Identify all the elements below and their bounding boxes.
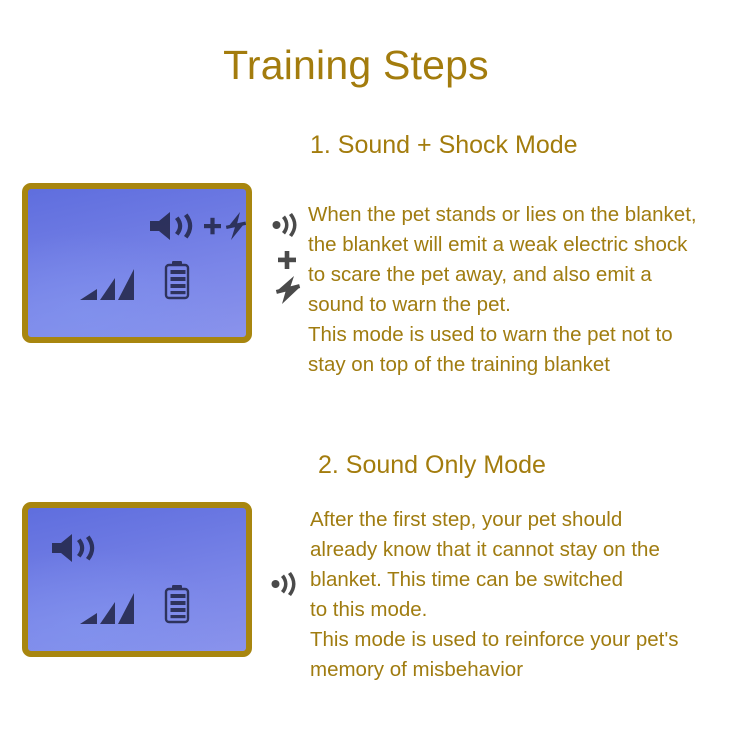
- body-line: blanket. This time can be switched: [310, 565, 679, 595]
- body-line: already know that it cannot stay on the: [310, 535, 679, 565]
- body-text-sound-only: After the first step, your pet should al…: [310, 505, 679, 685]
- lcd-display-sound-only: [22, 502, 252, 657]
- body-line: to scare the pet away, and also emit a: [308, 260, 697, 290]
- body-line: to this mode.: [310, 595, 679, 625]
- speaker-waves-icon: [271, 572, 301, 596]
- speaker-plus-shock-icon: [148, 211, 252, 241]
- body-line: When the pet stands or lies on the blank…: [308, 200, 697, 230]
- lightning-bolt-icon: [275, 275, 301, 305]
- body-line: the blanket will emit a weak electric sh…: [308, 230, 697, 260]
- body-line: This mode is used to reinforce your pet'…: [310, 625, 679, 655]
- body-line: stay on top of the training blanket: [308, 350, 697, 380]
- lcd-display-sound-shock: [22, 183, 252, 343]
- body-line: memory of misbehavior: [310, 655, 679, 685]
- battery-icon: [163, 260, 191, 300]
- section-heading-sound-shock: 1. Sound + Shock Mode: [310, 131, 578, 160]
- signal-bars-icon: [80, 267, 136, 301]
- page-title: Training Steps: [0, 42, 712, 89]
- body-text-sound-shock: When the pet stands or lies on the blank…: [308, 200, 697, 380]
- plus-icon: [277, 250, 297, 270]
- speaker-waves-icon: [272, 213, 302, 237]
- section-heading-sound-only: 2. Sound Only Mode: [318, 451, 546, 480]
- body-line: This mode is used to warn the pet not to: [308, 320, 697, 350]
- training-steps-page: Training Steps 1. Sound + Shock Mode: [0, 0, 750, 750]
- battery-icon: [163, 584, 191, 624]
- signal-bars-icon: [80, 591, 136, 625]
- body-line: After the first step, your pet should: [310, 505, 679, 535]
- body-line: sound to warn the pet.: [308, 290, 697, 320]
- speaker-waves-icon: [50, 533, 100, 563]
